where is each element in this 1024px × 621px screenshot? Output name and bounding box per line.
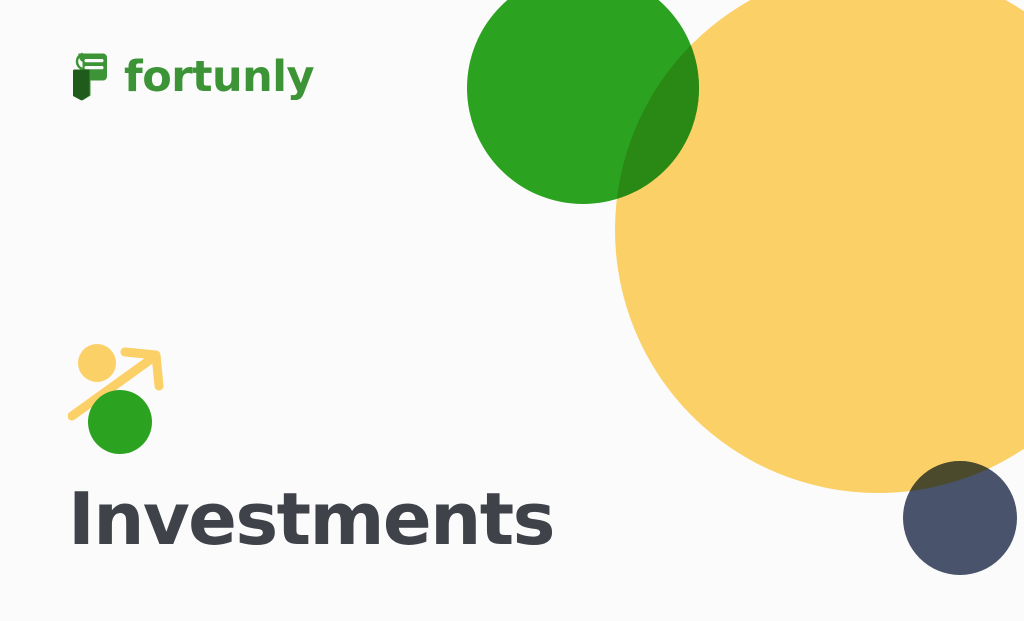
growth-arrow-icon xyxy=(68,338,172,456)
book-bookmark-icon xyxy=(70,52,110,102)
brand-logo[interactable]: fortunly xyxy=(70,52,314,102)
investments-hero-banner: fortunly Investments xyxy=(0,0,1024,621)
page-title: Investments xyxy=(68,483,554,555)
green-circle xyxy=(467,0,699,204)
yellow-dot xyxy=(78,344,116,382)
green-yellow-overlap xyxy=(615,0,1024,493)
slate-yellow-overlap xyxy=(615,0,1024,493)
green-dot xyxy=(88,390,152,454)
yellow-circle xyxy=(615,0,1024,493)
brand-wordmark: fortunly xyxy=(124,56,314,99)
slate-circle xyxy=(903,461,1017,575)
